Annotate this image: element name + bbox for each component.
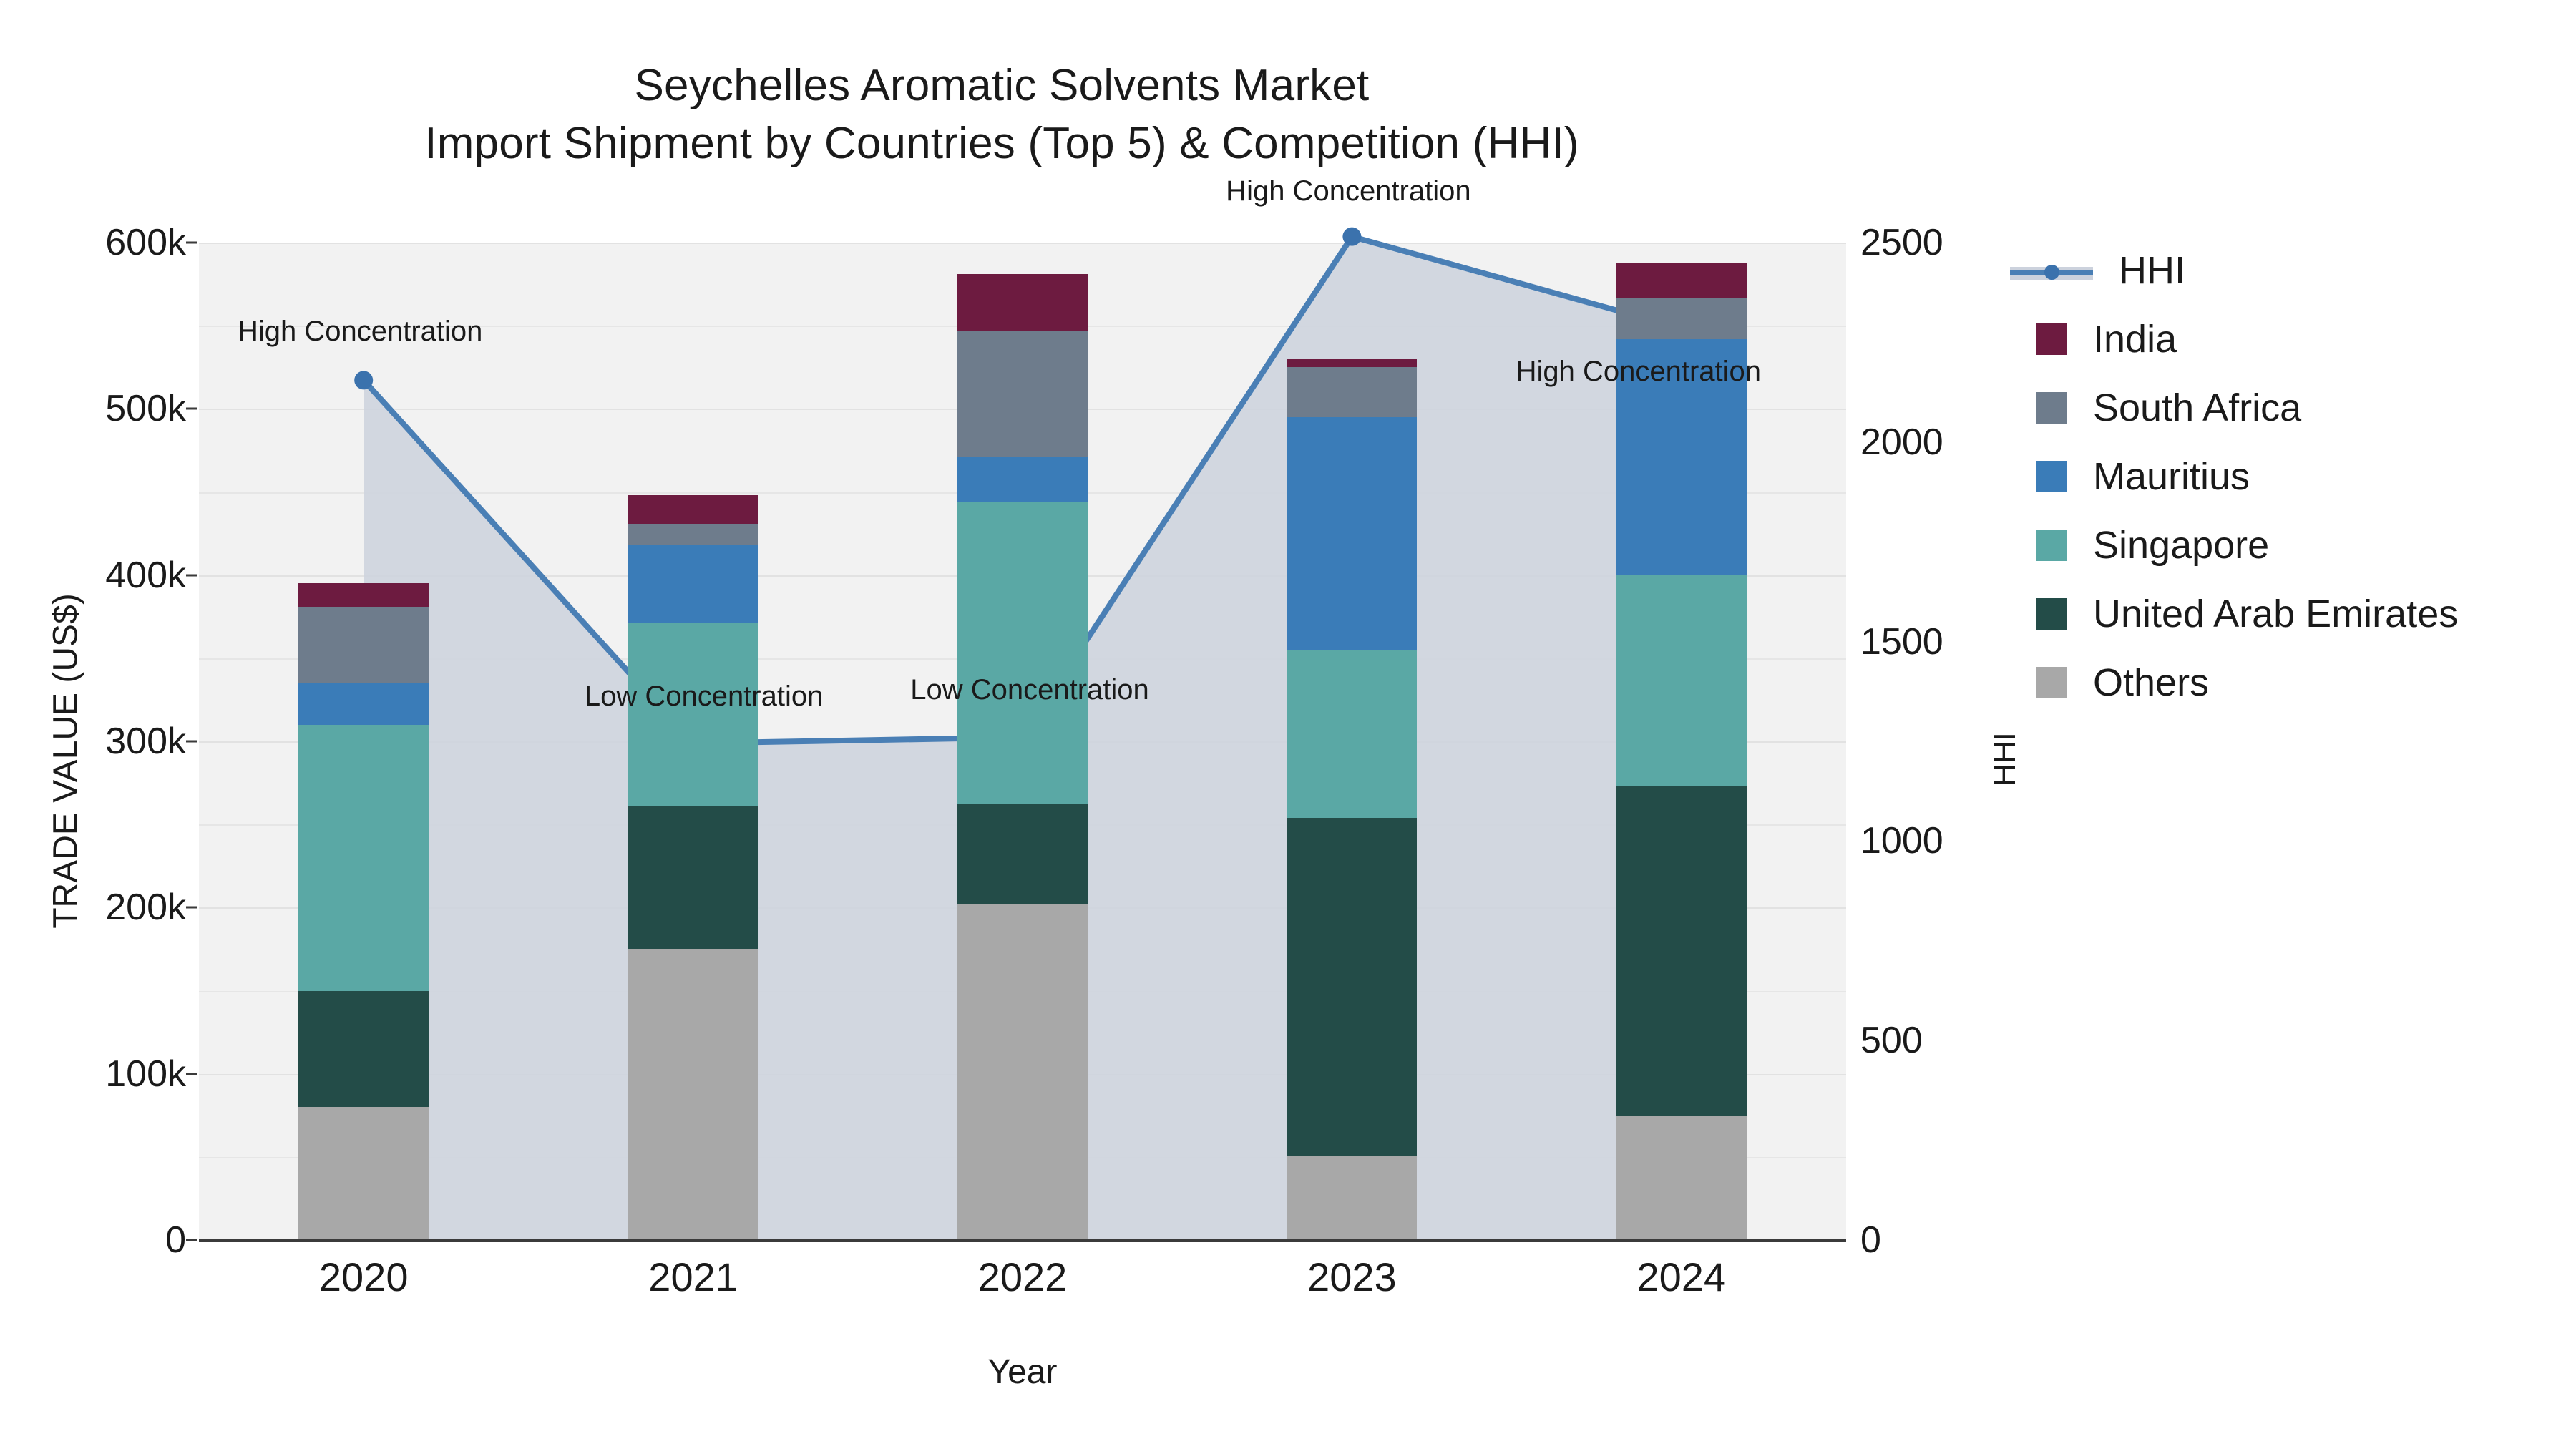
bar-2020[interactable] [298,243,429,1240]
x-axis-label: Year [199,1352,1846,1392]
legend-swatch-icon [2036,667,2067,698]
bar-segment[interactable] [1616,575,1747,786]
bar-segment[interactable] [957,502,1088,804]
bar-segment[interactable] [957,804,1088,904]
y-tick-left-label: 400k [7,554,186,597]
bar-segment[interactable] [628,524,758,545]
x-tick-label-2022: 2022 [915,1254,1130,1300]
bar-2022[interactable] [957,243,1088,1240]
legend-item-singapore[interactable]: Singapore [2036,511,2565,580]
legend-label: Others [2093,660,2209,705]
annotation-2022: Low Concentration [910,674,1149,706]
legend-label: United Arab Emirates [2093,592,2458,636]
bar-segment[interactable] [957,904,1088,1240]
legend-swatch-icon [2036,598,2067,630]
legend-label: India [2093,317,2177,361]
bar-segment[interactable] [1616,1116,1747,1240]
x-tick-label-2021: 2021 [586,1254,801,1300]
legend-label: South Africa [2093,386,2301,430]
x-tick-label-2024: 2024 [1574,1254,1789,1300]
bar-segment[interactable] [1287,367,1417,417]
y-tick-left-label: 200k [7,886,186,929]
x-tick-label-2023: 2023 [1244,1254,1459,1300]
bar-2024[interactable] [1616,243,1747,1240]
bar-segment[interactable] [1287,359,1417,368]
y-tick-right-label: 500 [1860,1019,2046,1062]
y-tick-left-mark [186,242,197,244]
bar-segment[interactable] [1287,818,1417,1156]
legend-item-others[interactable]: Others [2036,648,2565,717]
bar-segment[interactable] [298,725,429,991]
annotation-2024: High Concentration [1516,356,1761,388]
bar-segment[interactable] [957,457,1088,502]
annotation-2023: High Concentration [1226,175,1470,208]
bar-2023[interactable] [1287,243,1417,1240]
bar-segment[interactable] [957,274,1088,331]
y-tick-left-mark [186,907,197,909]
y-axis-left-label: TRADE VALUE (US$) [47,511,86,1012]
legend-item-south-africa[interactable]: South Africa [2036,374,2565,442]
y-tick-left-mark [186,1073,197,1075]
legend-swatch-icon [2036,461,2067,492]
y-tick-left-label: 100k [7,1053,186,1096]
legend-item-united-arab-emirates[interactable]: United Arab Emirates [2036,580,2565,648]
y-tick-right-label: 2000 [1860,421,2046,464]
y-axis-right-label: HHI [1987,616,2023,902]
chart-canvas: Seychelles Aromatic Solvents Market Impo… [0,0,2576,1449]
chart-title-line1: Seychelles Aromatic Solvents Market [635,61,1370,110]
y-tick-left-label: 600k [7,221,186,264]
bar-segment[interactable] [628,806,758,950]
bar-segment[interactable] [628,949,758,1240]
x-axis-line [199,1239,1846,1242]
annotation-2021: Low Concentration [585,680,824,713]
y-tick-left-mark [186,741,197,743]
bar-segment[interactable] [298,607,429,683]
annotation-2020: High Concentration [238,316,482,348]
y-tick-left-mark [186,574,197,576]
bar-segment[interactable] [298,1107,429,1240]
legend-item-mauritius[interactable]: Mauritius [2036,442,2565,511]
bar-segment[interactable] [1287,417,1417,650]
y-tick-left-label: 300k [7,720,186,763]
bar-segment[interactable] [1287,650,1417,818]
legend-swatch-icon [2036,323,2067,355]
bar-segment[interactable] [1616,786,1747,1116]
legend-line-icon [2010,255,2093,286]
y-tick-left-label: 0 [7,1219,186,1262]
legend-swatch-icon [2036,530,2067,561]
x-tick-label-2020: 2020 [256,1254,471,1300]
legend: HHIIndiaSouth AfricaMauritiusSingaporeUn… [2036,236,2565,717]
bar-segment[interactable] [1287,1156,1417,1240]
bar-segment[interactable] [1616,263,1747,298]
y-tick-left-mark [186,1239,197,1241]
chart-title-line2: Import Shipment by Countries (Top 5) & C… [0,115,2004,173]
bar-segment[interactable] [298,683,429,725]
legend-item-hhi[interactable]: HHI [2036,236,2565,305]
bar-segment[interactable] [1616,298,1747,339]
legend-label: HHI [2119,248,2185,293]
y-tick-left-mark [186,408,197,410]
bar-segment[interactable] [298,583,429,607]
y-tick-left-label: 500k [7,387,186,430]
bar-segment[interactable] [628,495,758,523]
plot-area [199,243,1846,1240]
legend-label: Mauritius [2093,454,2250,499]
bar-segment[interactable] [957,331,1088,457]
bar-2021[interactable] [628,243,758,1240]
legend-swatch-icon [2036,392,2067,424]
bar-segment[interactable] [628,623,758,806]
y-tick-right-label: 0 [1860,1219,2046,1262]
legend-label: Singapore [2093,523,2269,567]
bar-segment[interactable] [298,991,429,1108]
bar-segment[interactable] [628,545,758,623]
legend-item-india[interactable]: India [2036,305,2565,374]
chart-title: Seychelles Aromatic Solvents Market Impo… [0,57,2004,172]
